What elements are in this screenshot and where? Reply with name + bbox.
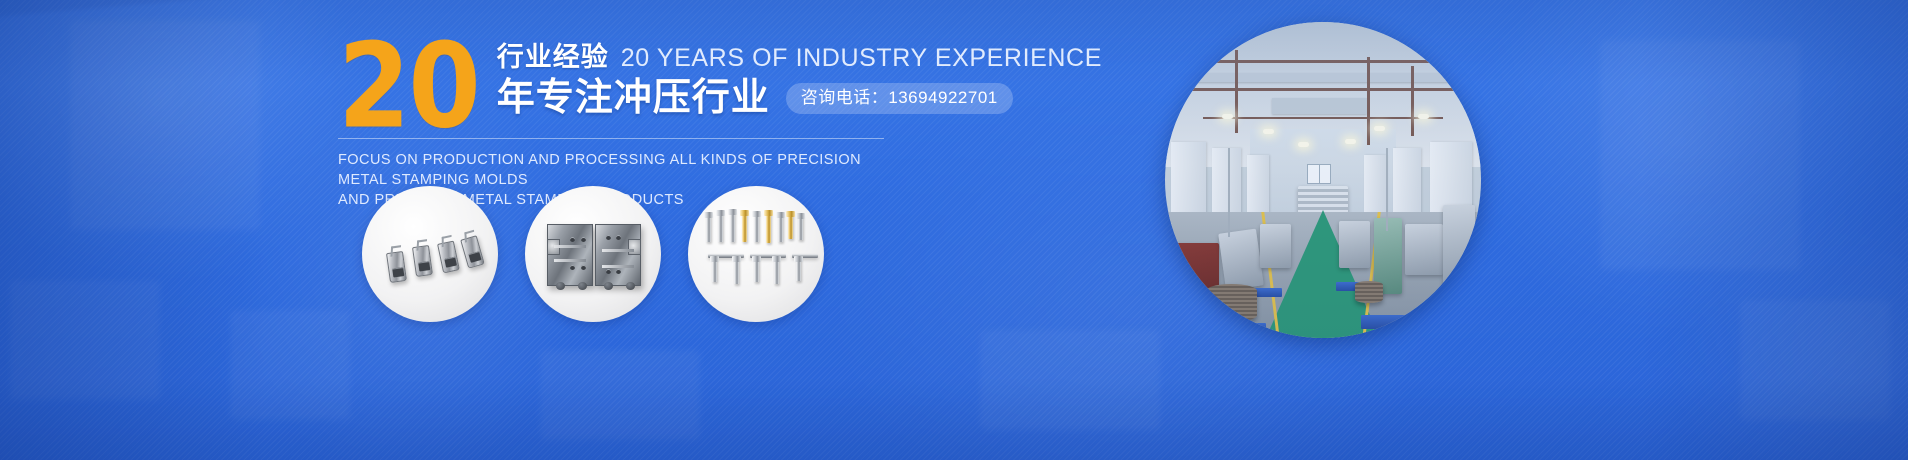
- promo-banner: 20 行业经验 20 YEARS OF INDUSTRY EXPERIENCE …: [0, 0, 1908, 460]
- headline-line-2: 年专注冲压行业 咨询电话：13694922701: [497, 78, 1102, 119]
- headline-line-1: 行业经验 20 YEARS OF INDUSTRY EXPERIENCE: [497, 44, 1102, 71]
- headline-row: 20 行业经验 20 YEARS OF INDUSTRY EXPERIENCE …: [338, 38, 958, 125]
- product-circle-usb-connectors[interactable]: [362, 186, 498, 322]
- subtitle-line-1: FOCUS ON PRODUCTION AND PROCESSING ALL K…: [338, 150, 898, 190]
- product-thumbnail-row: [362, 186, 824, 322]
- cn-main-headline: 年专注冲压行业: [497, 78, 770, 119]
- years-number: 20: [338, 38, 479, 136]
- factory-workshop-photo[interactable]: [1165, 22, 1481, 338]
- cn-eyebrow-text: 行业经验: [497, 44, 609, 71]
- phone-badge[interactable]: 咨询电话：13694922701: [786, 83, 1013, 114]
- product-circle-metal-terminals[interactable]: [688, 186, 824, 322]
- metal-terminal-group: [688, 186, 824, 322]
- headline-text-group: 行业经验 20 YEARS OF INDUSTRY EXPERIENCE 年专注…: [497, 38, 1102, 119]
- en-eyebrow-text: 20 YEARS OF INDUSTRY EXPERIENCE: [621, 46, 1102, 71]
- stamping-mold-group: [525, 186, 661, 322]
- usb-connector-group: [362, 186, 498, 322]
- product-circle-stamping-molds[interactable]: [525, 186, 661, 322]
- photo-color-tint: [1165, 22, 1481, 338]
- headline-block: 20 行业经验 20 YEARS OF INDUSTRY EXPERIENCE …: [338, 38, 958, 210]
